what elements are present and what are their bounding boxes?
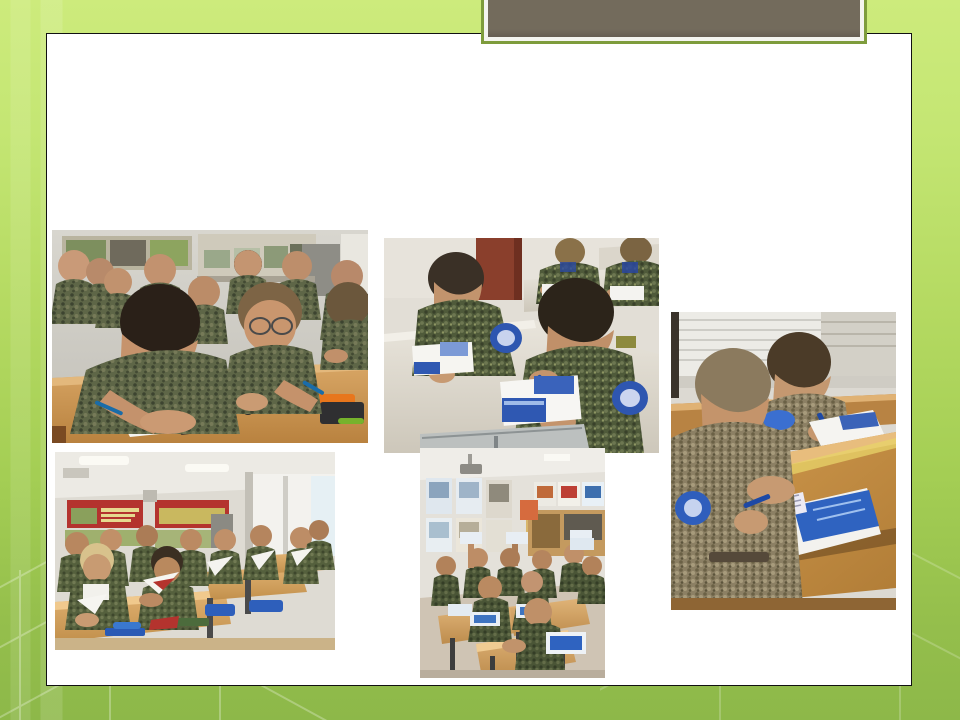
photo-classroom-raised-cards[interactable] [420, 448, 605, 678]
top-image-frame [481, 0, 867, 44]
top-image-fill [488, 0, 860, 37]
presentation-slide: Акция «Письмо солдату»(с 18-23.09.2023 г… [0, 0, 960, 720]
photo-cadets-writing-closeup[interactable] [52, 230, 368, 443]
photo-classroom-triangle-letters[interactable] [55, 452, 335, 650]
photo-cadets-signing-cards[interactable] [384, 238, 659, 453]
photo-two-cadets-wooden-desk[interactable] [671, 312, 896, 610]
